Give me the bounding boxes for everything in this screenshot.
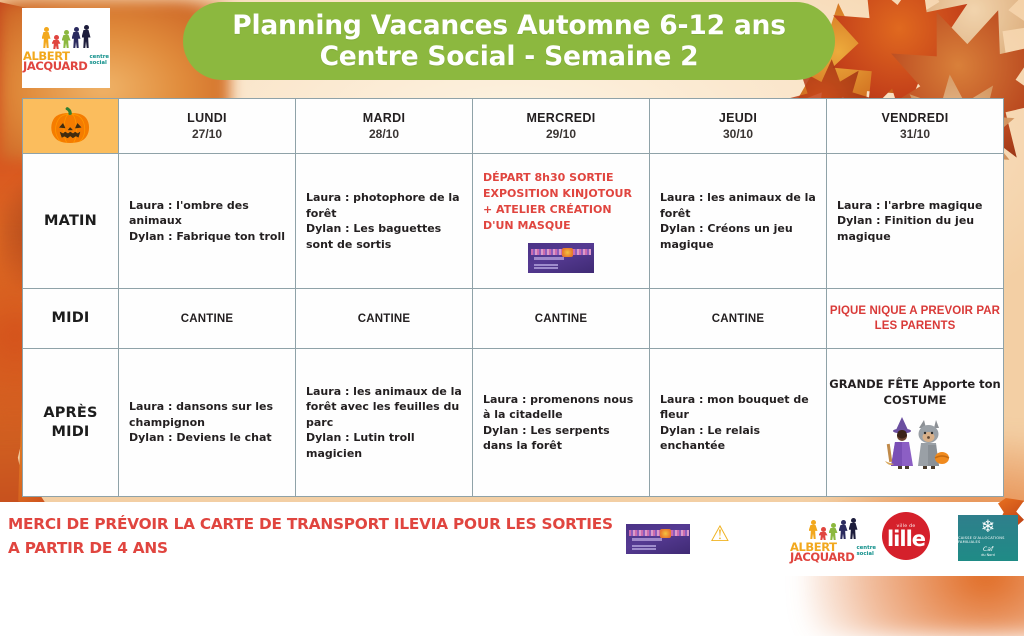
warning-icon: ⚠: [710, 524, 730, 546]
day-name-jeudi: JEUDI: [650, 111, 826, 125]
kinjotour-wave-icon: [531, 249, 591, 255]
albert-jacquard-logo: ALBERT JACQUARD centre social: [22, 8, 110, 88]
activity-line: Dylan : Créons un jeu magique: [660, 221, 818, 252]
day-name-mardi: MARDI: [296, 111, 472, 125]
row-label-apres: APRÈS: [23, 404, 118, 423]
picnic-notice-line: PIQUE NIQUE A PREVOIR: [830, 305, 973, 317]
day-date-mercredi: 29/10: [473, 127, 649, 141]
cell-matin-vendredi: Laura : l'arbre magique Dylan : Finition…: [827, 154, 1004, 289]
table-corner-cell: 🎃: [23, 99, 119, 154]
table-row-apres-midi: APRÈS MIDI Laura : dansons sur les champ…: [23, 349, 1004, 497]
kinjotour-text-line-2: [632, 544, 656, 550]
cell-midi-jeudi: CANTINE: [650, 289, 827, 349]
logo-word-jacquard: JACQUARD: [23, 61, 87, 72]
meal-label: CANTINE: [296, 313, 472, 325]
day-date-jeudi: 30/10: [650, 127, 826, 141]
activity-line: Laura : l'ombre des animaux: [129, 198, 287, 229]
activity-line: Laura : les animaux de la forêt avec les…: [306, 384, 464, 431]
activity-line: Dylan : Lutin troll magicien: [306, 430, 464, 461]
cell-midi-vendredi: PIQUE NIQUE A PREVOIR PAR LES PARENTS: [827, 289, 1004, 349]
day-header-lundi: LUNDI 27/10: [119, 99, 296, 154]
kinjotour-mark-icon: [562, 248, 573, 257]
day-header-vendredi: VENDREDI 31/10: [827, 99, 1004, 154]
cell-apres-vendredi: GRANDE FÊTE Apporte ton COSTUME: [827, 349, 1004, 497]
day-date-vendredi: 31/10: [827, 127, 1003, 141]
cell-midi-mercredi: CANTINE: [473, 289, 650, 349]
footer-note-line1: MERCI DE PRÉVOIR LA CARTE DE TRANSPORT I…: [8, 512, 618, 536]
cell-matin-jeudi: Laura : les animaux de la forêt Dylan : …: [650, 154, 827, 289]
meal-label: CANTINE: [473, 313, 649, 325]
day-date-mardi: 28/10: [296, 127, 472, 141]
party-line: GRANDE FÊTE: [829, 377, 919, 391]
cell-midi-mardi: CANTINE: [296, 289, 473, 349]
day-header-jeudi: JEUDI 30/10: [650, 99, 827, 154]
kinjotour-logo: [528, 243, 594, 273]
activity-line: Laura : les animaux de la forêt: [660, 190, 818, 221]
outing-line: DÉPART 8h30: [483, 171, 565, 184]
activity-line: Dylan : Les serpents dans la forêt: [483, 423, 641, 454]
caf-subtitle: CAISSE D'ALLOCATIONS FAMILIALES: [958, 536, 1018, 544]
kinjotour-wave-icon: [629, 530, 689, 536]
meal-label: CANTINE: [650, 313, 826, 325]
row-label-midi: MIDI: [23, 309, 118, 328]
ville-de-lille-logo: ville de lille: [882, 512, 930, 560]
logo-sub-social: social: [89, 61, 109, 67]
row-label-apres-midi-cell: APRÈS MIDI: [23, 349, 119, 497]
planning-table: 🎃 LUNDI 27/10 MARDI 28/10 MERCREDI 29/10…: [22, 98, 1004, 497]
page-title-line1: Planning Vacances Automne 6-12 ans: [232, 10, 786, 41]
caf-logo: ❄ CAISSE D'ALLOCATIONS FAMILIALES Caf du…: [958, 515, 1018, 561]
snowflake-icon: ❄: [981, 519, 995, 535]
title-banner: Planning Vacances Automne 6-12 ans Centr…: [183, 2, 835, 80]
day-date-lundi: 27/10: [119, 127, 295, 141]
footer-transport-notice: MERCI DE PRÉVOIR LA CARTE DE TRANSPORT I…: [8, 512, 618, 560]
activity-line: Dylan : Finition du jeu magique: [837, 213, 995, 244]
caf-region: du Nord: [981, 553, 994, 557]
pumpkin-icon: 🎃: [23, 109, 118, 143]
kinjotour-mark-icon: [660, 529, 671, 538]
kinjotour-badge: [626, 524, 690, 554]
logo-word-jacquard: JACQUARD: [790, 552, 854, 563]
row-label-midi2: MIDI: [23, 423, 118, 442]
cell-apres-lundi: Laura : dansons sur les champignon Dylan…: [119, 349, 296, 497]
cell-midi-lundi: CANTINE: [119, 289, 296, 349]
footer-logo-strip: ⚠ ALBERT JACQUARD centre social: [626, 512, 1018, 564]
activity-line: Dylan : Le relais enchantée: [660, 423, 818, 454]
activity-line: Laura : l'arbre magique: [837, 198, 995, 214]
kinjotour-text-line-1: [534, 257, 564, 260]
footer-note-line2: A PARTIR DE 4 ANS: [8, 536, 618, 560]
cell-matin-mercredi: DÉPART 8h30 SORTIE EXPOSITION KINJOTOUR …: [473, 154, 650, 289]
day-name-mercredi: MERCREDI: [473, 111, 649, 125]
cell-matin-mardi: Laura : photophore de la forêt Dylan : L…: [296, 154, 473, 289]
kinjotour-logo: [626, 524, 690, 554]
kinjotour-text-line-1: [632, 538, 662, 541]
page-title-line2: Centre Social - Semaine 2: [320, 41, 699, 72]
cell-matin-lundi: Laura : l'ombre des animaux Dylan : Fabr…: [119, 154, 296, 289]
row-label-matin: MATIN: [23, 212, 118, 231]
day-header-mardi: MARDI 28/10: [296, 99, 473, 154]
albert-jacquard-logo: ALBERT JACQUARD centre social: [796, 516, 870, 562]
activity-line: Laura : promenons nous à la citadelle: [483, 392, 641, 423]
row-label-midi-cell: MIDI: [23, 289, 119, 349]
activity-line: Laura : photophore de la forêt: [306, 190, 464, 221]
day-header-mercredi: MERCREDI 29/10: [473, 99, 650, 154]
day-name-lundi: LUNDI: [119, 111, 295, 125]
kinjotour-text-line-2: [534, 263, 558, 269]
family-figures-icon: [42, 25, 91, 49]
activity-line: Laura : mon bouquet de fleur: [660, 392, 818, 423]
meal-label: CANTINE: [119, 313, 295, 325]
lille-main-text: lille: [887, 529, 925, 549]
row-label-matin-cell: MATIN: [23, 154, 119, 289]
cell-apres-mercredi: Laura : promenons nous à la citadelle Dy…: [473, 349, 650, 497]
day-name-vendredi: VENDREDI: [827, 111, 1003, 125]
activity-line: Dylan : Fabrique ton troll: [129, 229, 287, 245]
table-row-matin: MATIN Laura : l'ombre des animaux Dylan …: [23, 154, 1004, 289]
caf-name: Caf: [983, 546, 993, 553]
family-figures-icon: [809, 516, 858, 540]
cell-apres-mardi: Laura : les animaux de la forêt avec les…: [296, 349, 473, 497]
activity-line: Laura : dansons sur les champignon: [129, 399, 287, 430]
table-header-row: 🎃 LUNDI 27/10 MARDI 28/10 MERCREDI 29/10…: [23, 99, 1004, 154]
halloween-kids-costume-illustration: [876, 414, 954, 470]
activity-line: Dylan : Les baguettes sont de sortis: [306, 221, 464, 252]
table-row-midi: MIDI CANTINE CANTINE CANTINE CANTINE PIQ…: [23, 289, 1004, 349]
logo-sub-social: social: [856, 552, 876, 558]
activity-line: Dylan : Deviens le chat: [129, 430, 287, 446]
cell-apres-jeudi: Laura : mon bouquet de fleur Dylan : Le …: [650, 349, 827, 497]
